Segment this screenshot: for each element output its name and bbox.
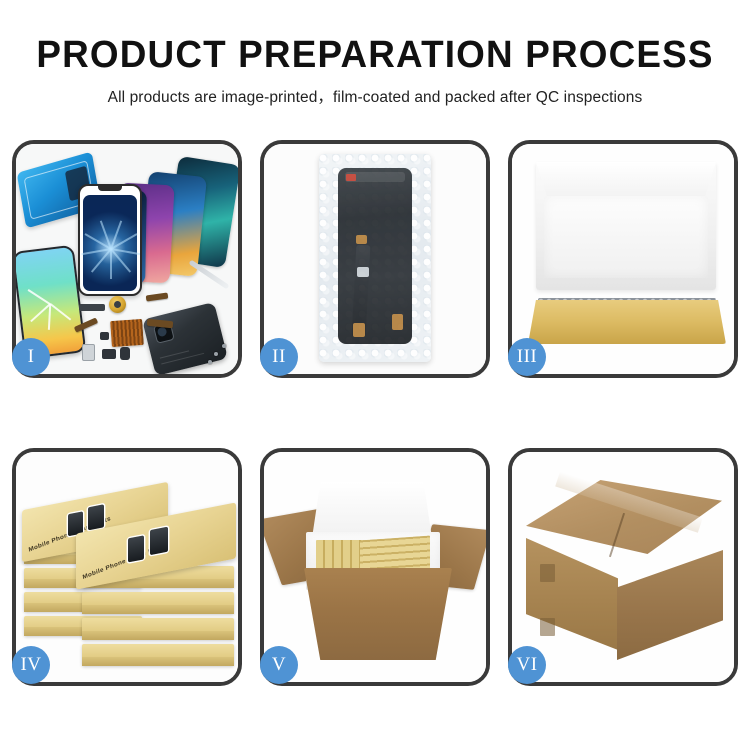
open-carton-icon bbox=[304, 568, 452, 660]
step-badge-1: I bbox=[12, 338, 50, 376]
step-image-retail-box-stacking: Mobile Phone Spare Parts bbox=[16, 452, 238, 682]
foam-sheet-icon bbox=[544, 196, 708, 278]
screw-icon bbox=[208, 360, 212, 364]
step-panel-bubble-wrapping: II bbox=[260, 140, 490, 378]
step-badge-4: IV bbox=[12, 646, 50, 684]
carton-tab-icon bbox=[540, 564, 555, 582]
front-glass-panel-icon bbox=[78, 184, 142, 296]
bubble-wrap-bag-icon bbox=[319, 154, 431, 362]
step-image-sealed-carton bbox=[512, 452, 734, 682]
sim-tray-icon bbox=[82, 344, 95, 361]
screw-icon bbox=[214, 352, 218, 356]
kraft-box-tray-icon bbox=[528, 300, 726, 344]
header: PRODUCT PREPARATION PROCESS All products… bbox=[0, 0, 750, 107]
button-component-icon bbox=[120, 347, 130, 360]
step-image-foam-boxing bbox=[512, 144, 734, 374]
vibration-motor-icon bbox=[109, 296, 126, 313]
step-panel-carton-loading: V bbox=[260, 448, 490, 686]
page-subtitle: All products are image-printed，film-coat… bbox=[0, 76, 750, 107]
button-component-icon bbox=[102, 349, 116, 359]
lcd-assembly-icon bbox=[338, 168, 412, 344]
step-badge-6: VI bbox=[508, 646, 546, 684]
step-badge-2: II bbox=[260, 338, 298, 376]
earpiece-speaker-icon bbox=[79, 304, 105, 311]
step-panel-sealed-carton: VI bbox=[508, 448, 738, 686]
button-component-icon bbox=[100, 332, 109, 340]
step-image-carton-loading bbox=[264, 452, 486, 682]
foam-lid-icon bbox=[312, 482, 432, 538]
step-panel-parts-preparation: I bbox=[12, 140, 242, 378]
carton-tab-icon bbox=[540, 618, 555, 636]
step-image-bubble-wrapping bbox=[264, 144, 486, 374]
circuit-board-icon bbox=[110, 319, 144, 347]
step-panel-retail-box-stacking: Mobile Phone Spare Parts bbox=[12, 448, 242, 686]
infographic-page: PRODUCT PREPARATION PROCESS All products… bbox=[0, 0, 750, 750]
step-image-parts-preparation bbox=[16, 144, 238, 374]
process-steps-grid: I bbox=[12, 140, 738, 686]
screw-icon bbox=[222, 344, 226, 348]
step-badge-5: V bbox=[260, 646, 298, 684]
step-badge-3: III bbox=[508, 338, 546, 376]
page-title: PRODUCT PREPARATION PROCESS bbox=[11, 0, 739, 76]
step-panel-foam-boxing: III bbox=[508, 140, 738, 378]
